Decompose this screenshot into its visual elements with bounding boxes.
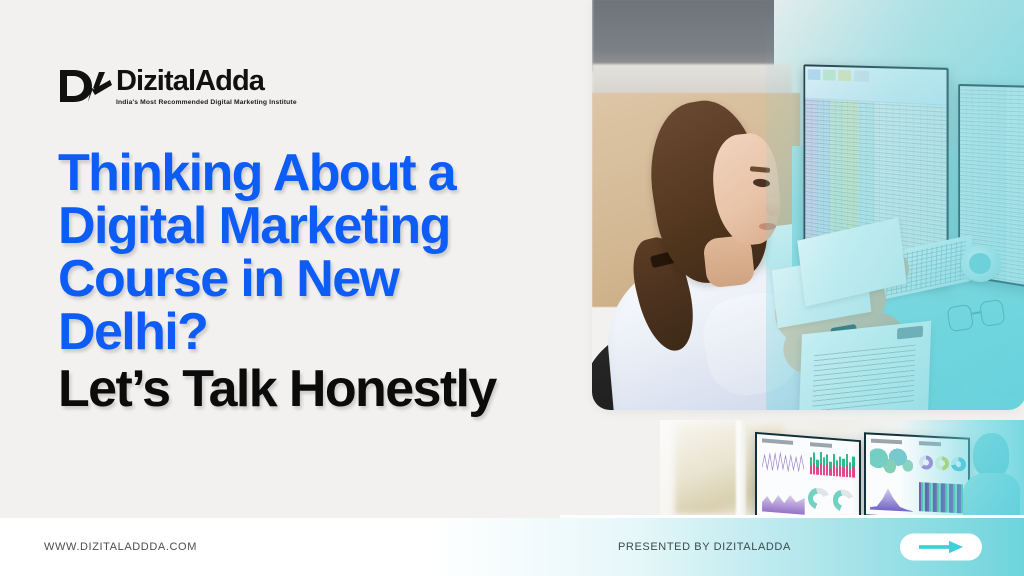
brand-logo[interactable]: DizitalAdda India's Most Recommended Dig… [58, 66, 293, 106]
headline-line-1: Thinking About a [58, 147, 578, 200]
headline-line-4: Delhi? [58, 306, 578, 359]
arrow-right-icon [918, 540, 964, 555]
slide-canvas: DizitalAdda India's Most Recommended Dig… [0, 0, 1024, 576]
footer-website-url[interactable]: WWW.DIZITALADDDA.COM [44, 541, 197, 553]
da-monogram-icon [58, 66, 114, 106]
headline-line-3: Course in New [58, 253, 578, 306]
logo-tagline: India's Most Recommended Digital Marketi… [116, 99, 297, 106]
photo-scene [592, 0, 1024, 410]
left-content-panel: DizitalAdda India's Most Recommended Dig… [0, 0, 600, 576]
headline-line-5: Let’s Talk Honestly [58, 363, 578, 416]
dashboard-screen-left-icon [755, 432, 861, 518]
next-slide-button[interactable] [900, 534, 982, 561]
logo-text-group: DizitalAdda India's Most Recommended Dig… [116, 66, 293, 106]
analytics-photo [660, 420, 1024, 518]
footer-bar: WWW.DIZITALADDDA.COM PRESENTED BY DIZITA… [0, 518, 1024, 576]
page-title: Thinking About a Digital Marketing Cours… [58, 147, 578, 416]
logo-wordmark: DizitalAdda [116, 67, 293, 96]
footer-credit-text: PRESENTED BY DIZITALADDA [618, 541, 791, 553]
main-photo [592, 0, 1024, 410]
headline-line-2: Digital Marketing [58, 200, 578, 253]
analytics-scene [660, 420, 1024, 518]
